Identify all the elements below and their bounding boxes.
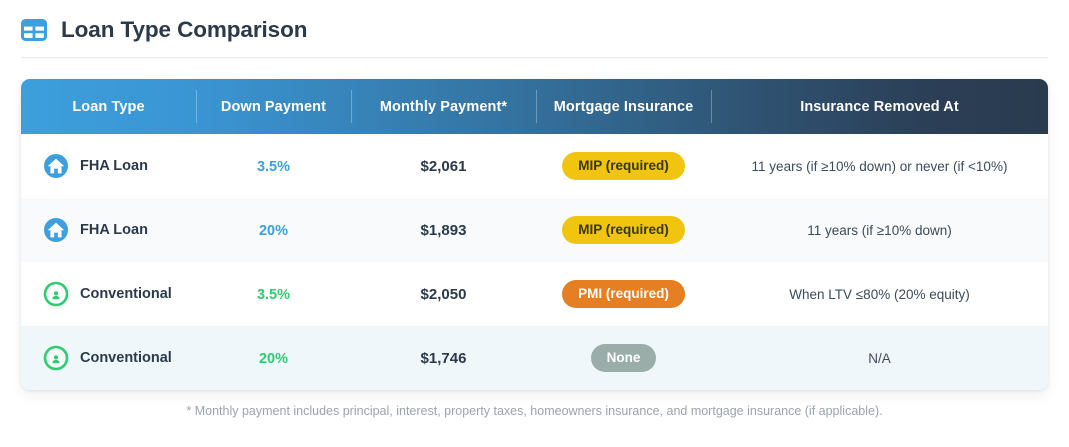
- down-payment-value: 20%: [259, 351, 288, 367]
- cell-insurance-removed: 11 years (if ≥10% down): [711, 198, 1048, 262]
- table-row[interactable]: Conventional 3.5% $2,050 PMI (required) …: [21, 262, 1048, 326]
- cell-monthly-payment: $2,050: [351, 262, 536, 326]
- page-header: Loan Type Comparison: [0, 0, 1069, 46]
- cell-loan-type: Conventional: [21, 262, 196, 326]
- cell-loan-type: FHA Loan: [21, 134, 196, 198]
- comparison-table-container: Loan Type Down Payment Monthly Payment* …: [21, 79, 1048, 390]
- cell-down-payment: 3.5%: [196, 134, 351, 198]
- loan-type-label: Conventional: [80, 286, 172, 302]
- house-icon: [43, 217, 69, 243]
- house-person-icon: [43, 345, 69, 371]
- cell-loan-type: FHA Loan: [21, 198, 196, 262]
- header-divider: [21, 57, 1048, 58]
- monthly-payment-value: $1,893: [421, 222, 467, 239]
- column-header-mortgage-insurance[interactable]: Mortgage Insurance: [536, 79, 711, 134]
- status-badge: MIP (required): [562, 216, 685, 245]
- insurance-removed-text: 11 years (if ≥10% down): [807, 223, 951, 238]
- page-title: Loan Type Comparison: [61, 19, 307, 42]
- cell-monthly-payment: $2,061: [351, 134, 536, 198]
- column-header-down-payment[interactable]: Down Payment: [196, 79, 351, 134]
- loan-type-label: Conventional: [80, 350, 172, 366]
- cell-monthly-payment: $1,893: [351, 198, 536, 262]
- cell-monthly-payment: $1,746: [351, 326, 536, 390]
- cell-down-payment: 3.5%: [196, 262, 351, 326]
- cell-insurance-removed: 11 years (if ≥10% down) or never (if <10…: [711, 134, 1048, 198]
- down-payment-value: 3.5%: [257, 159, 290, 175]
- status-badge: PMI (required): [562, 280, 685, 309]
- monthly-payment-value: $2,050: [421, 286, 467, 303]
- table-header-row: Loan Type Down Payment Monthly Payment* …: [21, 79, 1048, 134]
- insurance-removed-text: When LTV ≤80% (20% equity): [789, 287, 970, 302]
- table-row[interactable]: FHA Loan 3.5% $2,061 MIP (required) 11 y…: [21, 134, 1048, 198]
- table-row[interactable]: FHA Loan 20% $1,893 MIP (required) 11 ye…: [21, 198, 1048, 262]
- loan-type-label: FHA Loan: [80, 158, 148, 174]
- cell-mortgage-insurance: None: [536, 326, 711, 390]
- column-header-insurance-removed[interactable]: Insurance Removed At: [711, 79, 1048, 134]
- cell-insurance-removed: N/A: [711, 326, 1048, 390]
- down-payment-value: 20%: [259, 223, 288, 239]
- cell-down-payment: 20%: [196, 198, 351, 262]
- insurance-removed-text: N/A: [868, 351, 891, 366]
- down-payment-value: 3.5%: [257, 287, 290, 303]
- cell-mortgage-insurance: MIP (required): [536, 198, 711, 262]
- loan-comparison-page: Loan Type Comparison Loan Type Down Paym…: [0, 0, 1069, 447]
- monthly-payment-value: $1,746: [421, 350, 467, 367]
- table-grid-icon: [21, 17, 47, 43]
- table-header: Loan Type Down Payment Monthly Payment* …: [21, 79, 1048, 134]
- footnote-text: * Monthly payment includes principal, in…: [0, 404, 1069, 418]
- cell-mortgage-insurance: MIP (required): [536, 134, 711, 198]
- loan-type-label: FHA Loan: [80, 222, 148, 238]
- status-badge: None: [591, 344, 657, 373]
- table-row[interactable]: Conventional 20% $1,746 None N/A: [21, 326, 1048, 390]
- cell-loan-type: Conventional: [21, 326, 196, 390]
- loan-comparison-table: Loan Type Down Payment Monthly Payment* …: [21, 79, 1048, 390]
- column-header-monthly-payment[interactable]: Monthly Payment*: [351, 79, 536, 134]
- insurance-removed-text: 11 years (if ≥10% down) or never (if <10…: [752, 159, 1008, 174]
- house-person-icon: [43, 281, 69, 307]
- monthly-payment-value: $2,061: [421, 158, 467, 175]
- cell-down-payment: 20%: [196, 326, 351, 390]
- status-badge: MIP (required): [562, 152, 685, 181]
- table-body: FHA Loan 3.5% $2,061 MIP (required) 11 y…: [21, 134, 1048, 390]
- column-header-loan-type[interactable]: Loan Type: [21, 79, 196, 134]
- cell-insurance-removed: When LTV ≤80% (20% equity): [711, 262, 1048, 326]
- house-icon: [43, 153, 69, 179]
- cell-mortgage-insurance: PMI (required): [536, 262, 711, 326]
